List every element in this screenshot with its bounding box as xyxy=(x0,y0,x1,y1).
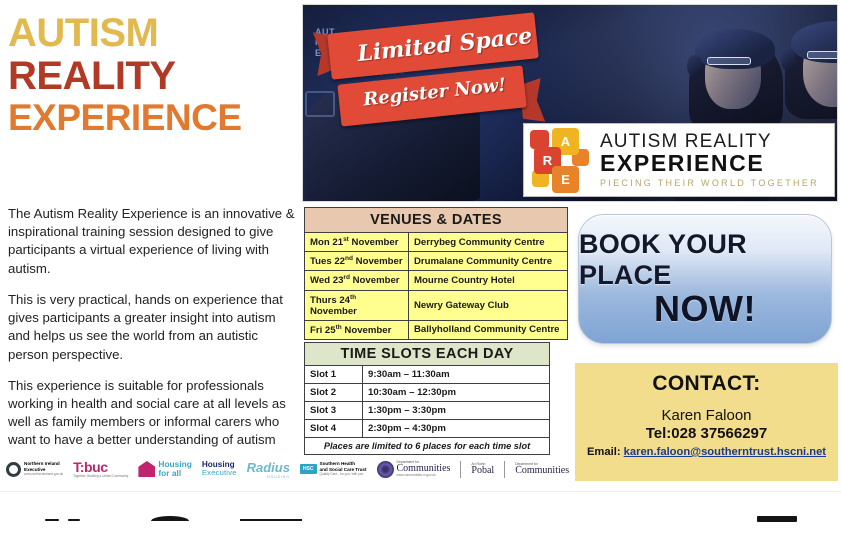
timeslots-table-title: TIME SLOTS EACH DAY xyxy=(305,343,550,366)
slot-time-cell: 2:30pm – 4:30pm xyxy=(363,420,550,438)
table-row: Slot 4 2:30pm – 4:30pm xyxy=(305,420,550,438)
contact-email-row: Email: karen.faloon@southerntrust.hscni.… xyxy=(575,446,838,458)
vr-glasses-left xyxy=(707,57,751,65)
vr-glasses-right xyxy=(807,51,838,59)
headline-line-3: EXPERIENCE xyxy=(8,98,298,138)
logo-title-line-2: EXPERIENCE xyxy=(600,151,819,175)
logo-line-2: Communities xyxy=(515,466,569,476)
intro-paragraph-2: This is very practical, hands on experie… xyxy=(8,291,296,364)
tbuc-sub: Together: Building a United Community xyxy=(73,475,128,479)
logo-housing-executive: Housing Executive xyxy=(202,461,237,477)
contact-telephone: Tel:028 37566297 xyxy=(575,425,838,442)
venue-date-cell: Thurs 24th November xyxy=(305,290,409,320)
logo-radius-housing: Radius HOUSING xyxy=(247,460,290,479)
contact-email-link[interactable]: karen.faloon@southerntrust.hscni.net xyxy=(624,446,826,458)
contact-name: Karen Faloon xyxy=(575,407,838,424)
logo-line-2: Executive xyxy=(202,469,237,477)
headline-line-2: REALITY xyxy=(8,55,298,98)
slot-label-cell: Slot 4 xyxy=(305,420,363,438)
autism-reality-experience-logo: A R E AUTISM REALITY EXPERIENCE PIECING … xyxy=(523,123,835,197)
hsc-badge: HSC xyxy=(300,464,317,474)
logo-department-for-communities: Department for Communities www.communiti… xyxy=(377,460,451,478)
venue-date-cell: Tues 22nd November xyxy=(305,252,409,271)
headline-line-1: AUTISM xyxy=(8,12,298,55)
logo-sub: www.communities-ni.gov.uk xyxy=(397,474,451,478)
logo-title-line-1: AUTISM REALITY xyxy=(600,132,819,151)
table-row: Wed 23rd November Mourne Country Hotel xyxy=(305,271,568,290)
cropped-element-2 xyxy=(68,519,80,521)
cropped-element-5 xyxy=(757,516,797,522)
intro-paragraph-1: The Autism Reality Experience is an inno… xyxy=(8,205,296,278)
venue-date-cell: Mon 21st November xyxy=(305,233,409,252)
intro-paragraph-3: This experience is suitable for professi… xyxy=(8,377,296,450)
logo-pobal: An Roinn Pobal xyxy=(471,462,494,476)
logo-line-2: for all xyxy=(158,469,192,478)
slot-label-cell: Slot 3 xyxy=(305,402,363,420)
table-row: Fri 25th November Ballyholland Community… xyxy=(305,320,568,339)
hero-banner-image: AUTREE AUTISMREALITYEXPERIENCE Limi xyxy=(302,4,838,202)
venue-name-cell: Drumalane Community Centre xyxy=(409,252,568,271)
venues-dates-table: VENUES & DATES Mon 21st November Derrybe… xyxy=(304,207,568,340)
slot-time-cell: 1:30pm – 3:30pm xyxy=(363,402,550,420)
slot-label-cell: Slot 2 xyxy=(305,384,363,402)
cropped-element-4 xyxy=(240,519,302,521)
logo-southern-health-trust: HSC Southern Health and Social Care Trus… xyxy=(300,461,367,476)
table-row: Slot 3 1:30pm – 3:30pm xyxy=(305,402,550,420)
poster-headline: AUTISM REALITY EXPERIENCE xyxy=(8,12,298,138)
logo-sub: Quality Care - for you, with you xyxy=(320,473,367,477)
table-row: Slot 1 9:30am – 11:30am xyxy=(305,366,550,384)
table-row: Tues 22nd November Drumalane Community C… xyxy=(305,252,568,271)
partner-logo-strip: Northern Ireland Executive www.northerni… xyxy=(6,452,572,486)
puzzle-logo-icon: A R E xyxy=(530,127,592,193)
book-button-line-1: BOOK YOUR PLACE xyxy=(579,229,831,291)
venue-name-cell: Derrybeg Community Centre xyxy=(409,233,568,252)
logo-line-2: Pobal xyxy=(471,466,494,476)
contact-title: CONTACT: xyxy=(575,372,838,396)
book-button-line-2: NOW! xyxy=(654,288,756,330)
logo-tagline: PIECING THEIR WORLD TOGETHER xyxy=(600,178,819,188)
venue-date-cell: Fri 25th November xyxy=(305,320,409,339)
table-row: Slot 2 10:30am – 12:30pm xyxy=(305,384,550,402)
table-row: Mon 21st November Derrybeg Community Cen… xyxy=(305,233,568,252)
ni-executive-icon xyxy=(6,462,21,477)
logo-line-2: HOUSING xyxy=(247,475,290,479)
puzzle-letter-e-text: E xyxy=(552,166,579,193)
venue-name-cell: Newry Gateway Club xyxy=(409,290,568,320)
slot-label-cell: Slot 1 xyxy=(305,366,363,384)
venues-table-header-row: VENUES & DATES xyxy=(305,208,568,233)
timeslots-table-header-row: TIME SLOTS EACH DAY xyxy=(305,343,550,366)
slot-time-cell: 10:30am – 12:30pm xyxy=(363,384,550,402)
logo-line-1: Radius xyxy=(247,460,290,475)
poster-page: AUTISM REALITY EXPERIENCE The Autism Rea… xyxy=(0,0,841,538)
logo-sub: www.northernireland.gov.uk xyxy=(24,473,63,477)
cropped-element-3 xyxy=(151,516,189,521)
contact-box: CONTACT: Karen Faloon Tel:028 37566297 E… xyxy=(575,363,838,481)
intro-text: The Autism Reality Experience is an inno… xyxy=(8,205,296,463)
logo-divider xyxy=(460,461,461,478)
tbuc-wordmark: T:buc xyxy=(73,459,128,475)
logo-divider xyxy=(504,461,505,478)
venues-table-title: VENUES & DATES xyxy=(305,208,568,233)
table-row: Thurs 24th November Newry Gateway Club xyxy=(305,290,568,320)
time-slots-table: TIME SLOTS EACH DAY Slot 1 9:30am – 11:3… xyxy=(304,342,550,455)
logo-wordmark: AUTISM REALITY EXPERIENCE PIECING THEIR … xyxy=(600,132,819,188)
venue-name-cell: Ballyholland Community Centre xyxy=(409,320,568,339)
book-your-place-button[interactable]: BOOK YOUR PLACE NOW! xyxy=(578,214,832,344)
logo-communities-irish: Department for Communities xyxy=(515,462,569,476)
puzzle-letter-e: E xyxy=(552,166,579,193)
logo-northern-ireland-executive: Northern Ireland Executive www.northerni… xyxy=(6,461,63,476)
venue-name-cell: Mourne Country Hotel xyxy=(409,271,568,290)
cropped-element-1 xyxy=(45,519,59,521)
logo-housing-for-all: Housing for all xyxy=(138,460,192,478)
venue-date-cell: Wed 23rd November xyxy=(305,271,409,290)
slot-time-cell: 9:30am – 11:30am xyxy=(363,366,550,384)
logo-tbuc: T:buc Together: Building a United Commun… xyxy=(73,459,128,479)
communities-flower-icon xyxy=(377,461,394,478)
contact-email-label: Email: xyxy=(587,446,621,458)
house-icon xyxy=(138,461,155,477)
limited-space-ribbon: Limited Space Register Now! xyxy=(315,19,545,129)
page-separator xyxy=(0,491,841,492)
